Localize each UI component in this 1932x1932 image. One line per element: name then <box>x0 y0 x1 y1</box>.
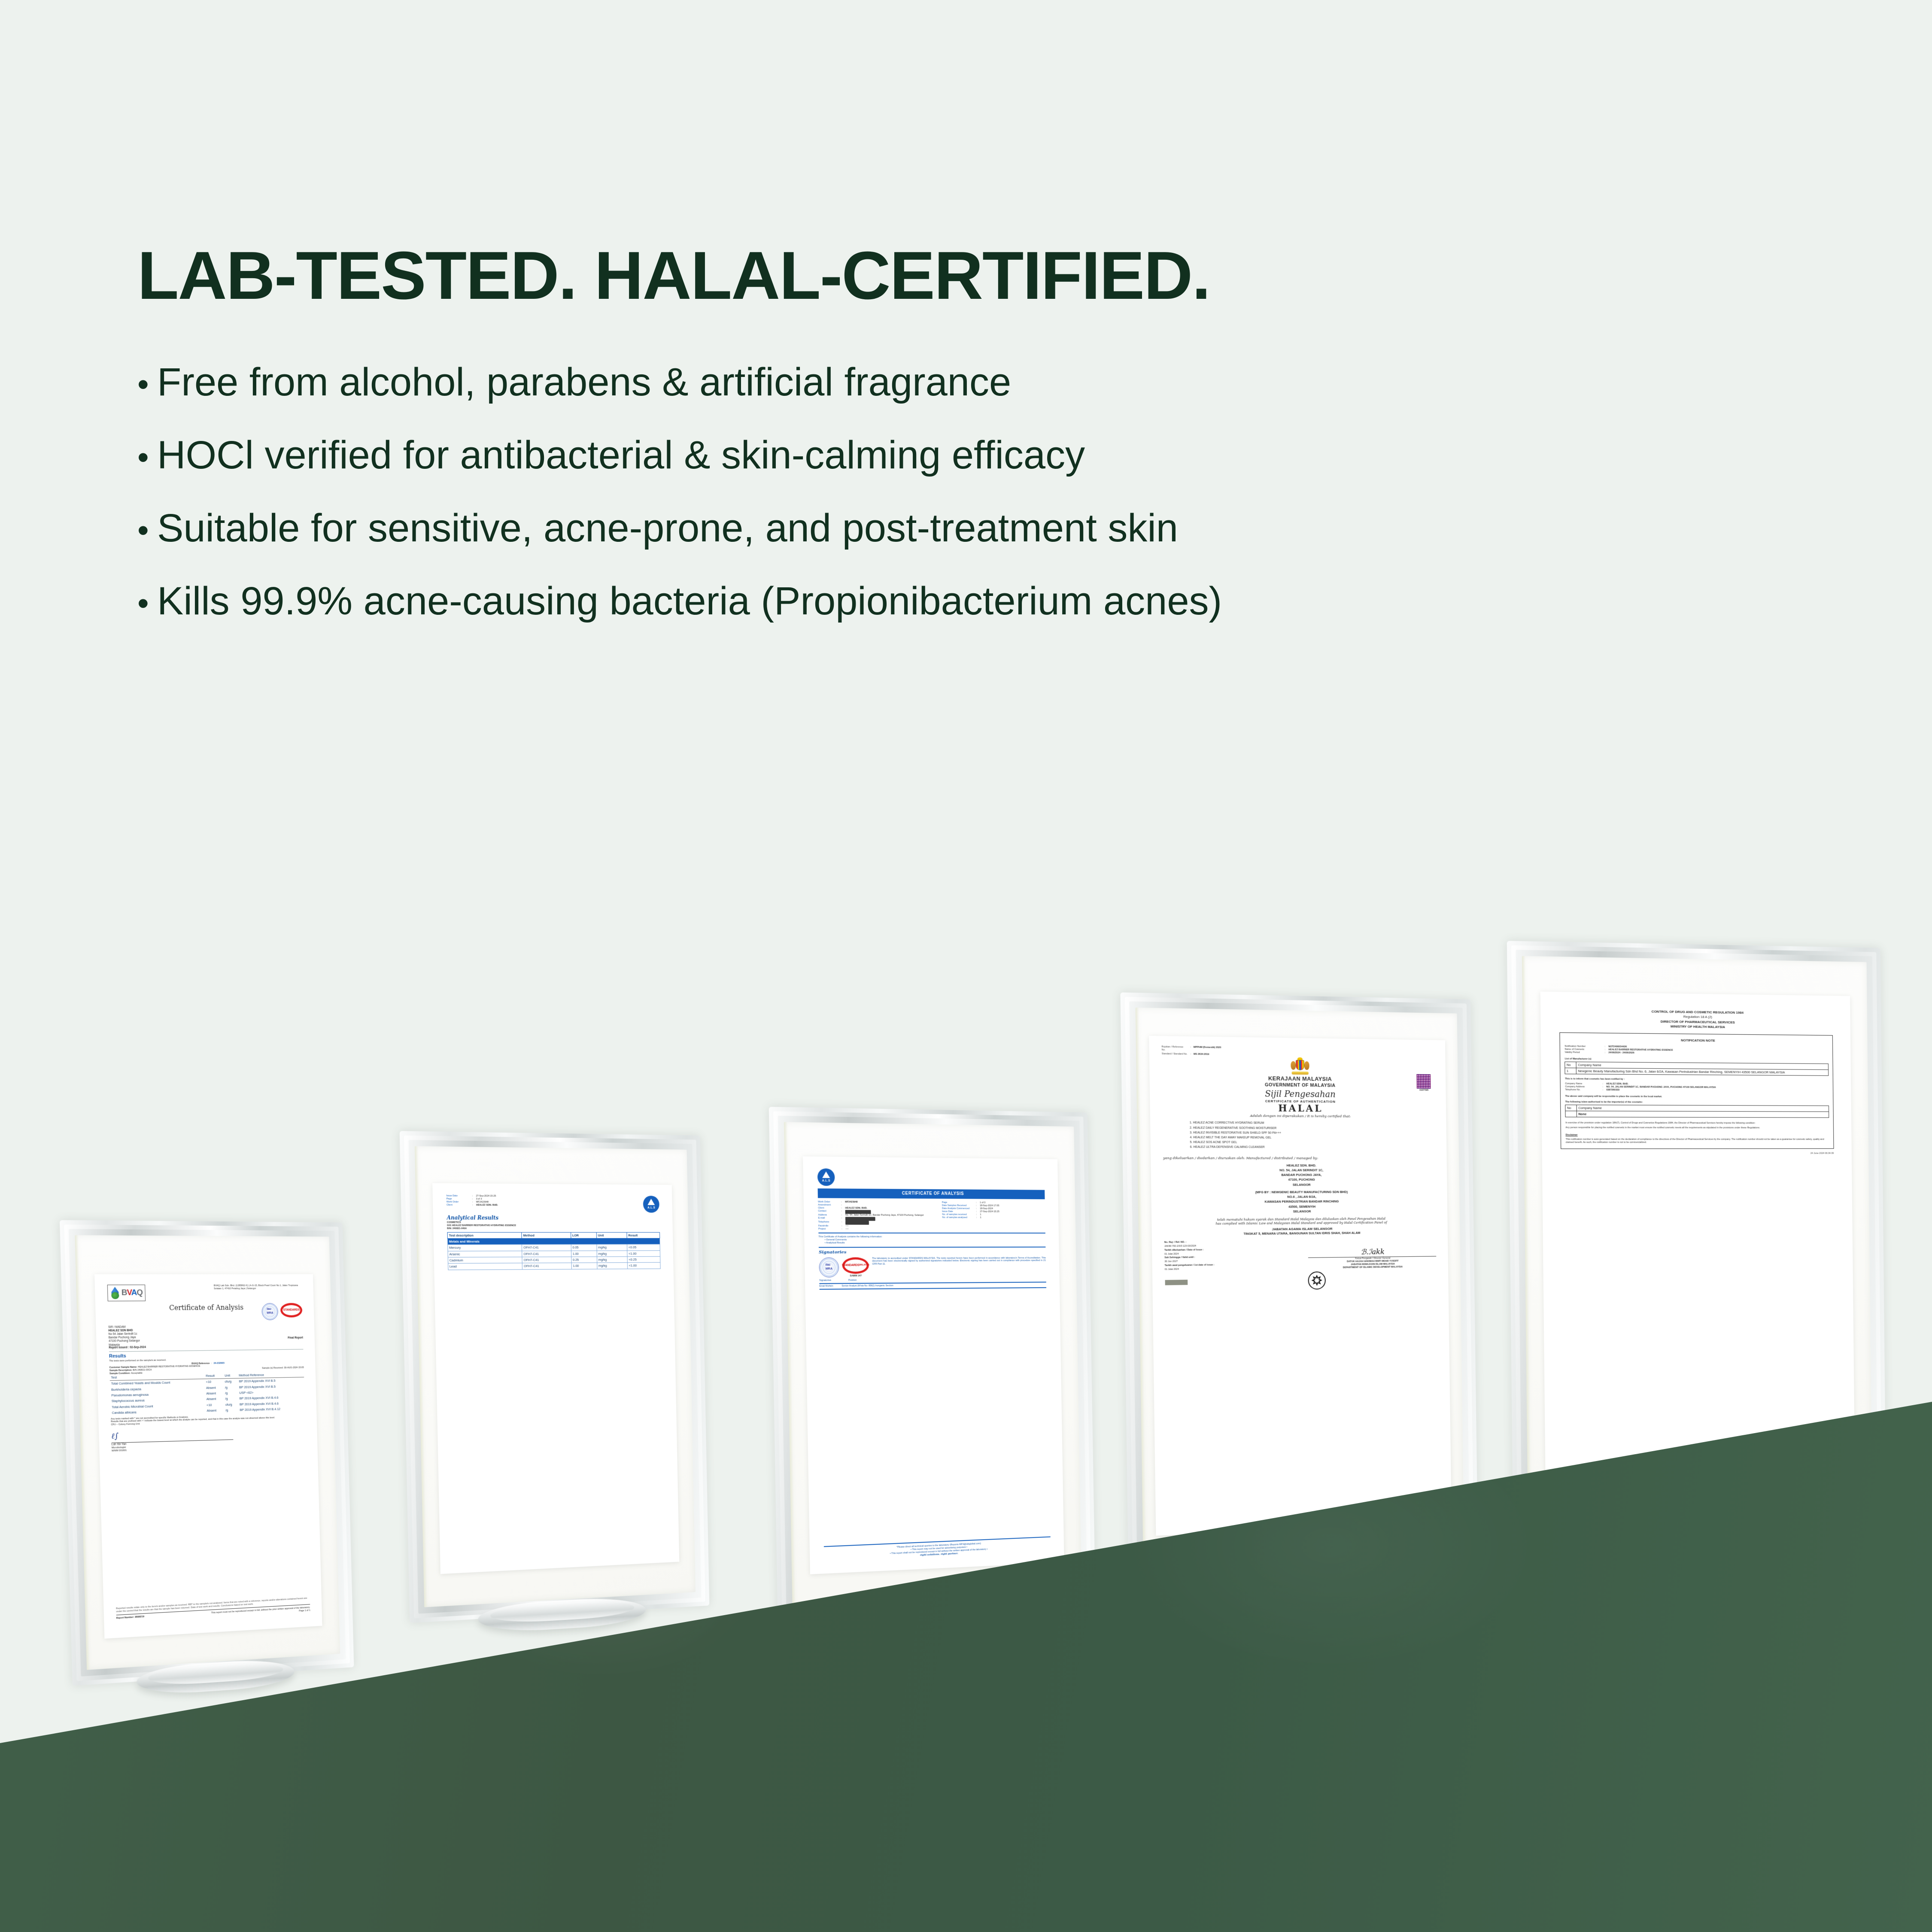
reference-value: 24-232665 <box>213 1362 225 1365</box>
ilac-mra-stamp: ilacMRA <box>261 1303 278 1320</box>
issue-date-value: 01 Julai 2024 <box>1164 1252 1214 1256</box>
manufacturer-heading: List of Manufacturer (s) <box>1565 1057 1829 1063</box>
manufacturer-table: NoCompany Name 1Newgenic Beauty Manufact… <box>1565 1061 1829 1076</box>
field-value: NOT240605442K <box>1608 1045 1627 1048</box>
report-issued-label: Report Issued <box>109 1346 127 1349</box>
work-order-label: Work Order <box>447 1200 470 1203</box>
qr-code-id: A227595 <box>1416 1089 1431 1092</box>
list-item: HEALEZ INVISIBLE RESTORATIVE SUN SHIELD … <box>1193 1130 1435 1136</box>
field-label: Contact <box>818 1210 838 1214</box>
certify-line: Adalah dengan ini diperakukan / It is he… <box>1163 1113 1435 1119</box>
col-header: Test <box>109 1373 204 1381</box>
standard-value: MS 2634:2019 <box>1194 1053 1209 1057</box>
als-logo: A.L.S <box>643 1196 659 1213</box>
title-halal: HALAL <box>1162 1103 1434 1114</box>
field-label: Client <box>818 1207 838 1210</box>
field-label: Company Name <box>1565 1082 1600 1085</box>
field-value: No. 54, Jalan Serindit 1C, Bandar Puchon… <box>845 1214 924 1217</box>
issue-date-value: 27-Sep-2024 15:25 <box>476 1195 496 1198</box>
col-header: LOR <box>571 1232 596 1238</box>
standards-malaysia-stamp: STANDARDSMALAYSIA <box>842 1257 869 1274</box>
batch: B/N: 240821-040A <box>447 1227 660 1230</box>
certificate-document-bvaq: BVAQ BVAQ Lab Sdn. Bhd. (1285862-X) | A-… <box>94 1274 322 1638</box>
document-title: CERTIFICATE OF ANALYSIS <box>902 1191 964 1197</box>
certificate-document-halal: Rujukan / Reference No.: MPPHM (Domestik… <box>1149 1036 1452 1536</box>
compliance-english: has complied with Islamic Law and Malays… <box>1164 1220 1436 1226</box>
standards-malaysia-stamp: STANDARDS <box>280 1303 303 1318</box>
col-header: No <box>1565 1105 1577 1111</box>
ref-no-value: JAKIM.700-2/3/3 123-03/2024 <box>1164 1244 1214 1249</box>
certificate-document-moh: CONTROL OF DRUG AND COSMETIC REGULATION … <box>1540 992 1855 1475</box>
field-label: Company Address <box>1565 1085 1600 1088</box>
col-header: No <box>1565 1062 1576 1068</box>
col-header: Company Name <box>1577 1105 1829 1112</box>
category: COSMETICS <box>447 1221 660 1224</box>
col-header: Method <box>522 1232 571 1238</box>
field-label: Telephone No. <box>1565 1088 1600 1091</box>
issue-date-label: Issue Date <box>446 1194 469 1197</box>
company-address-line: NO. 54, JALAN SERINDIT 1C, <box>1163 1168 1435 1173</box>
ref-no-label: No. Ruj: / Ref. NO. : <box>1164 1240 1214 1245</box>
first-issue-label: Tarikh awal pengeluaran / 1st date of is… <box>1165 1263 1215 1267</box>
col-header: Result <box>204 1373 223 1379</box>
field-value: MF2423948 <box>845 1201 857 1204</box>
certified-products-list: HEALEZ ACNE CORRECTIVE HYDRATING SERUM H… <box>1193 1121 1435 1150</box>
field-label: Notification Number <box>1564 1045 1602 1048</box>
table-row: MercuryOFH7-C410.05mg/kg<0.05 <box>447 1244 660 1251</box>
contains-item: Analytical Results <box>826 1242 845 1244</box>
signatory-position: Senior Analyst (M’sia No: 8562) Inorgani… <box>841 1285 893 1288</box>
field-value: 24/06/2024 - 24/06/2026 <box>1608 1051 1634 1054</box>
field-label: Project <box>818 1227 839 1230</box>
certificate-document-als-analytical: Issue Date: 27-Sep-2024 15:25 Page: 3 of… <box>432 1183 679 1574</box>
signatory-id: M/MM 001601 <box>112 1444 306 1452</box>
document-title: NOTIFICATION NOTE <box>1564 1037 1828 1044</box>
col-header: Unit <box>223 1373 237 1379</box>
client-value: HEALEZ SDN. BHD. <box>476 1204 498 1207</box>
importer-line: The following is/are authorised to be th… <box>1565 1100 1829 1104</box>
col-header: Test description <box>447 1232 522 1239</box>
col-header: Result <box>627 1232 660 1238</box>
work-order-value: MF2423948 <box>476 1201 489 1204</box>
list-item: HEALEZ MELT THE DAY AWAY MAKEUP REMOVAL … <box>1193 1135 1435 1141</box>
government-line-1: KERAJAAN MALAYSIA <box>1162 1074 1434 1084</box>
authority-line-2: TINGKAT 5, MENARA UTARA, BANGUNAN SULTAN… <box>1164 1230 1436 1236</box>
samm-number: SAMM 147 <box>842 1274 869 1277</box>
report-number: Report Number: 3B99219 <box>116 1616 144 1620</box>
page-value: 3 of 3 <box>476 1198 482 1201</box>
disclaimer-heading: Disclaimer <box>1565 1134 1829 1137</box>
condition-text: In exercise of the provision under regul… <box>1565 1122 1829 1125</box>
section-title: Analytical Results <box>447 1215 659 1221</box>
als-logo: A.L.S <box>817 1169 835 1186</box>
table-row: None <box>1565 1111 1829 1118</box>
signatories-heading: Signatories <box>819 1250 1046 1256</box>
jakim-halal-seal <box>1308 1271 1326 1289</box>
reference-value: MPPHM (Domestik) 2020 <box>1194 1046 1221 1052</box>
contains-item: General Comments <box>826 1239 847 1241</box>
malaysia-coat-of-arms <box>1290 1057 1310 1075</box>
issue-date-label: Tarikh dikeluarkan / Date of Issue : <box>1164 1248 1214 1252</box>
field-value: HEALEZ SDN. BHD. <box>845 1207 868 1210</box>
manufacturer-address-line: SELANGOR <box>1164 1208 1436 1215</box>
certificate-frame-bvaq[interactable]: BVAQ BVAQ Lab Sdn. Bhd. (1285862-X) | A-… <box>60 1220 354 1686</box>
field-label: No. of samples analysed <box>942 1216 974 1219</box>
certificate-frame-als-coa[interactable]: A.L.S CERTIFICATE OF ANALYSIS Work Order… <box>769 1107 1096 1625</box>
qr-code <box>1416 1074 1431 1089</box>
valid-until-label: Sah Sehingga / Valid until : <box>1164 1256 1214 1260</box>
signatory-name: Emal Muhsin <box>819 1285 833 1288</box>
field-value: NO. 54, JALAN SERINDIT 1C, BANDAR PUCHON… <box>1606 1086 1716 1089</box>
field-value: 1 <box>980 1216 981 1219</box>
field-label: Name of Cosmetic <box>1564 1048 1602 1051</box>
disclaimer-text: This notification number is auto-generat… <box>1566 1138 1829 1144</box>
report-issued-value: 02-Sep-2024 <box>130 1346 146 1349</box>
sub-sample: G01 HEALEZ BARRIER RESTORATIVE HYDRATING… <box>447 1224 660 1227</box>
redacted-block <box>1165 1279 1188 1285</box>
field-label: E-mail <box>818 1217 839 1221</box>
list-item: HEALEZ SOS ACNE SPOT GEL <box>1193 1140 1435 1145</box>
field-label: Address <box>818 1214 839 1217</box>
field-label: Work Order <box>818 1201 838 1204</box>
table-row: LeadOFH7-C411.00mg/kg<1.00 <box>448 1263 660 1270</box>
standard-label: Standard / Standard No. <box>1162 1053 1188 1056</box>
header-line-1: CONTROL OF DRUG AND COSMETIC REGULATION … <box>1559 1008 1832 1016</box>
company-address-line: SELANGOR <box>1163 1182 1436 1188</box>
footnote: CFU – Colony Forming Unit <box>111 1419 305 1427</box>
ilac-mra-stamp: ilacMRA <box>819 1257 839 1277</box>
client-label: Client <box>447 1203 470 1206</box>
importer-table: NoCompany Name None <box>1565 1104 1829 1118</box>
valid-until-value: 30 Jun 2027 <box>1164 1259 1214 1264</box>
responsible-line: The above said company will be responsib… <box>1565 1095 1829 1099</box>
lab-address: BVAQ Lab Sdn. Bhd. (1285862-X) | A-G-15,… <box>214 1284 302 1291</box>
field-value: HEALEZ SDN. BHD. <box>1606 1083 1628 1086</box>
list-item: HEALEZ ULTRA DEFENSIVE CALMING CLEANSER <box>1193 1145 1435 1150</box>
field-label: Facsimile <box>818 1224 839 1227</box>
results-table: Test Result Unit Method Reference Total … <box>109 1371 305 1416</box>
field-value: 1 <box>980 1213 981 1216</box>
reference-label: BVAQ Reference <box>191 1362 210 1366</box>
bvaq-logo: BVAQ <box>107 1285 146 1301</box>
certificate-document-als-coa: A.L.S CERTIFICATE OF ANALYSIS Work Order… <box>802 1156 1064 1574</box>
footer-date: 24 June 2024 06:34:39 <box>1561 1152 1834 1155</box>
produced-by-line: yang dikeluarkan / diedarkan / diuruskan… <box>1163 1156 1435 1160</box>
field-value: HEALEZ BARRIER RESTORATIVE HYDRATING ESS… <box>1608 1048 1673 1052</box>
table-row: 1Newgenic Beauty Manufacturing Sdn Bhd N… <box>1565 1068 1828 1075</box>
accreditation-text: The laboratory is accredited under STAND… <box>872 1257 1046 1266</box>
title-malay: Sijil Pengesahan <box>1162 1088 1434 1100</box>
field-value: 27-Sep-2024 15:25 <box>980 1210 999 1213</box>
certificate-frame-als-analytical[interactable]: Issue Date: 27-Sep-2024 15:25 Page: 3 of… <box>400 1131 710 1623</box>
col-header: Position <box>848 1279 857 1282</box>
col-header: Unit <box>596 1232 627 1238</box>
company-name: HEALEZ SDN. BHD. <box>1163 1163 1435 1167</box>
analytical-results-table: Test description Method LOR Unit Result … <box>447 1232 661 1270</box>
field-label: Validity Period <box>1564 1051 1602 1054</box>
field-label: Amendment <box>818 1204 838 1207</box>
field-value: 0387260333 <box>1606 1089 1619 1092</box>
first-issue-value: 01 Julai 2024 <box>1165 1267 1215 1271</box>
page-label: Page <box>447 1197 470 1200</box>
field-label: Telephone <box>818 1221 839 1224</box>
col-header: Signatories <box>819 1279 831 1282</box>
section-heading: Metals and Minerals <box>447 1238 660 1245</box>
notified-by-line: This is to inform that cosmetic has been… <box>1565 1078 1829 1082</box>
reference-label: Rujukan / Reference No. <box>1161 1045 1188 1052</box>
condition-detail: Any person responsible for placing the n… <box>1565 1127 1829 1130</box>
